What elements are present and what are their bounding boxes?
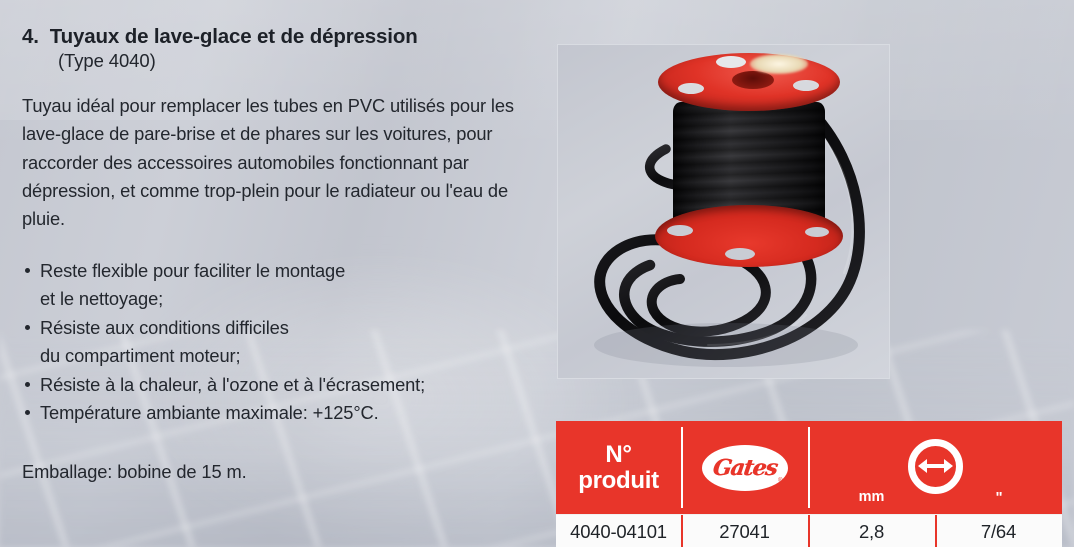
feature-line-1: Reste flexible pour faciliter le montage xyxy=(40,260,345,281)
column-header-brand: Gates ® xyxy=(681,421,808,514)
cell-diameter-inch: 7/64 xyxy=(935,515,1062,547)
table-header-row: N° produit Gates ® mm " xyxy=(556,421,1062,514)
table-row: 4040-04101 27041 2,8 7/64 xyxy=(556,514,1062,547)
product-index-number: 4. xyxy=(22,24,39,49)
list-item: Résiste à la chaleur, à l'ozone et à l'é… xyxy=(22,371,542,399)
product-type-label: (Type 4040) xyxy=(58,50,542,72)
list-item: Reste flexible pour faciliter le montage… xyxy=(22,257,542,313)
product-datasheet-page: 4. Tuyaux de lave-glace et de dépression… xyxy=(0,0,1074,547)
spool-bottom-flange xyxy=(655,205,843,267)
unit-label-inch: " xyxy=(935,489,1062,506)
product-title-text: Tuyaux de lave-glace et de dépression xyxy=(50,24,418,49)
cell-product-number: 4040-04101 xyxy=(556,515,681,547)
feature-line-2: du compartiment moteur; xyxy=(40,342,542,370)
product-intro-paragraph: Tuyau idéal pour remplacer les tubes en … xyxy=(22,92,538,233)
column-header-dimension: mm " xyxy=(808,421,1062,514)
unit-label-mm: mm xyxy=(808,489,935,506)
feature-line-1: Résiste à la chaleur, à l'ozone et à l'é… xyxy=(40,374,425,395)
gates-logo-icon: Gates ® xyxy=(702,445,788,491)
page-title: 4. Tuyaux de lave-glace et de dépression xyxy=(22,24,542,49)
registered-trademark-icon: ® xyxy=(778,478,782,484)
column-header-product-number: N° produit xyxy=(556,421,681,514)
feature-line-2: et le nettoyage; xyxy=(40,285,542,313)
spool-top-flange xyxy=(658,53,840,111)
product-spec-table: N° produit Gates ® mm " xyxy=(556,421,1062,547)
product-feature-list: Reste flexible pour faciliter le montage… xyxy=(22,257,542,427)
list-item: Résiste aux conditions difficiles du com… xyxy=(22,314,542,370)
product-number-label-line2: produit xyxy=(578,468,659,494)
product-image-inner xyxy=(558,45,889,378)
cell-brand-code: 27041 xyxy=(681,515,808,547)
product-description-column: 4. Tuyaux de lave-glace et de dépression… xyxy=(22,24,542,483)
list-item: Température ambiante maximale: +125°C. xyxy=(22,399,542,427)
feature-line-1: Résiste aux conditions difficiles xyxy=(40,317,289,338)
dimension-unit-labels: mm " xyxy=(808,489,1062,506)
product-image xyxy=(557,44,890,379)
cell-diameter-mm: 2,8 xyxy=(808,515,935,547)
product-number-label-line1: N° xyxy=(605,442,631,468)
diameter-icon xyxy=(908,439,963,494)
packaging-note: Emballage: bobine de 15 m. xyxy=(22,461,542,483)
gates-logo-text: Gates xyxy=(711,455,778,481)
feature-line-1: Température ambiante maximale: +125°C. xyxy=(40,402,379,423)
